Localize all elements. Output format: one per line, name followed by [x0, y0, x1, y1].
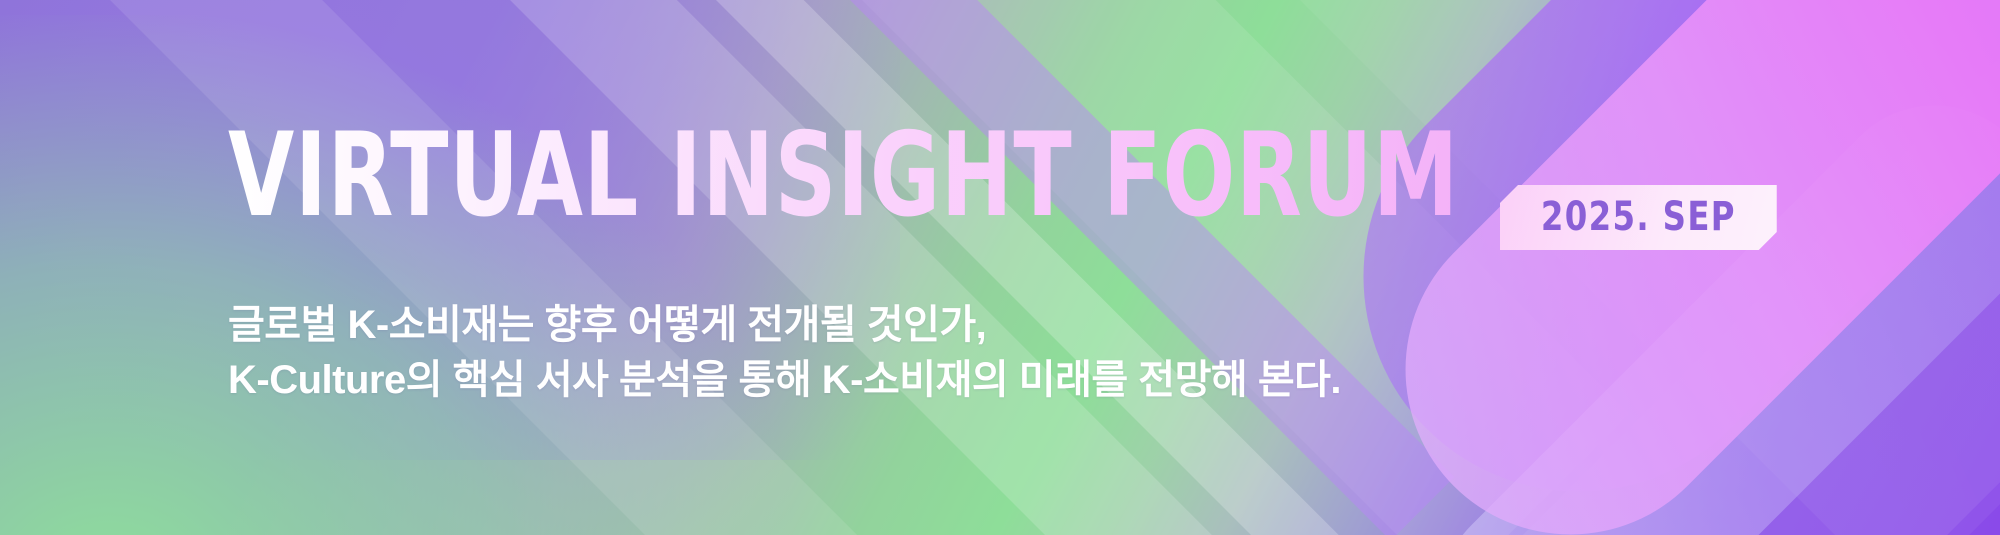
subtitle-line-2: K-Culture의 핵심 서사 분석을 통해 K-소비재의 미래를 전망해 본…	[228, 353, 1341, 408]
page-title: VIRTUAL INSIGHT FORUM	[228, 118, 1459, 234]
subtitle-line-1: 글로벌 K-소비재는 향후 어떻게 전개될 것인가,	[228, 298, 1341, 353]
subtitle-block: 글로벌 K-소비재는 향후 어떻게 전개될 것인가, K-Culture의 핵심…	[228, 298, 1341, 408]
banner-content: VIRTUAL INSIGHT FORUM 2025. SEP 글로벌 K-소비…	[0, 0, 2000, 535]
virtual-insight-forum-banner: VIRTUAL INSIGHT FORUM 2025. SEP 글로벌 K-소비…	[0, 0, 2000, 535]
date-badge: 2025. SEP	[1500, 185, 1777, 250]
date-badge-label: 2025. SEP	[1541, 197, 1736, 237]
